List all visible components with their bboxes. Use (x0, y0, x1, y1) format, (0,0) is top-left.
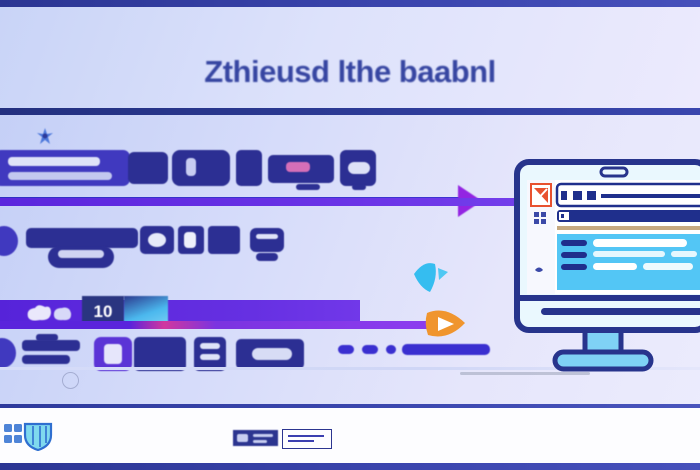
dash-bar (402, 344, 490, 355)
glyph-circle (0, 338, 16, 368)
glyph-line (256, 253, 278, 261)
glyph-inner (252, 348, 292, 360)
glyph-block (172, 150, 230, 186)
glyph-line (8, 157, 100, 166)
glyph-block (250, 228, 284, 252)
glyph-block (26, 228, 138, 248)
glyph-line (352, 184, 366, 190)
glyph-line (22, 340, 80, 351)
text-field-outline[interactable] (282, 429, 332, 449)
glyph-line (348, 162, 370, 174)
bottom-border-rule (0, 463, 700, 470)
glyph-accent (286, 162, 310, 172)
glyph-line (8, 172, 112, 180)
glyph-line (296, 184, 320, 190)
connector-line-purple (0, 321, 432, 329)
glyph-inner (104, 344, 122, 364)
glyph-line (58, 250, 104, 258)
ring-marker-icon (62, 372, 79, 389)
glyph-line (22, 355, 70, 364)
glyph-block (208, 226, 240, 254)
desktop-monitor-illustration (497, 158, 700, 374)
glyph-circle (0, 226, 18, 256)
arrow-cyan-accent-icon (408, 258, 458, 300)
glyph-line (200, 343, 220, 349)
glyph-block (134, 337, 186, 371)
top-border-rule (0, 0, 700, 7)
badge-glyphs-icon (3, 423, 23, 449)
glyph-line (186, 158, 196, 176)
glyph-block (128, 152, 168, 184)
cloud-shape (24, 303, 80, 323)
glyph-block (236, 150, 262, 186)
label-chip[interactable] (233, 430, 278, 446)
footer-bar (0, 408, 700, 463)
page-title: Zthieusd lthe baabnl (0, 54, 700, 90)
glyph-line (200, 354, 220, 360)
sparkle-icon (34, 126, 56, 150)
arrow-right-orange-icon (424, 305, 468, 343)
dash-mark (386, 345, 396, 354)
divider-navy (0, 108, 700, 115)
glyph-block (0, 150, 130, 186)
glyph-line (36, 334, 58, 341)
glyph-line (256, 234, 278, 239)
glyph-line (184, 232, 196, 248)
dash-mark (338, 345, 354, 354)
glyph-dot (148, 233, 166, 247)
dash-mark (362, 345, 378, 354)
shield-icon (22, 421, 54, 451)
slide-canvas: Zthieusd lthe baabnl (0, 0, 700, 470)
